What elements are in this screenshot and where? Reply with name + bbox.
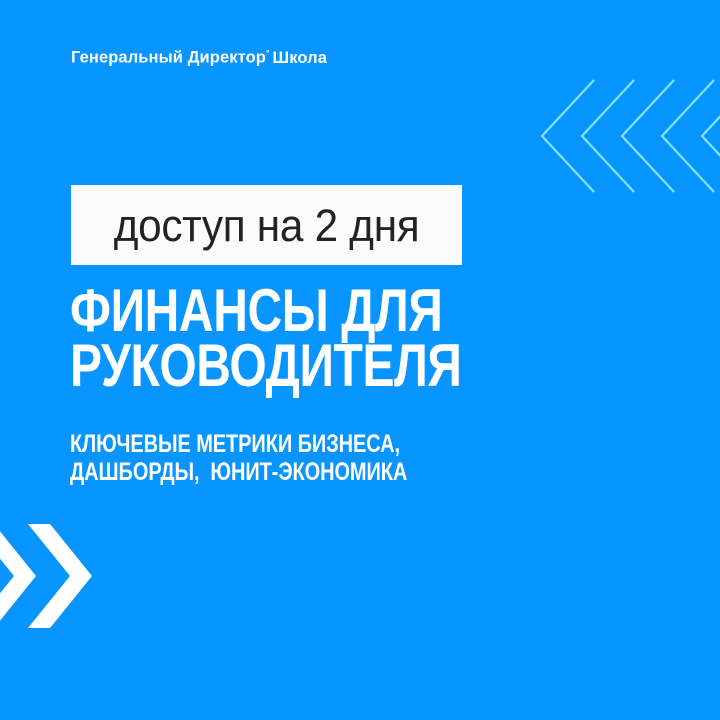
page-subtitle-line-1: КЛЮЧЕВЫЕ МЕТРИКИ БИЗНЕСА, [70,430,518,458]
page-title-line-2: РУКОВОДИТЕЛЯ [70,338,518,393]
access-duration-badge: доступ на 2 дня [71,185,462,265]
page-subtitle-line-2: ДАШБОРДЫ, ЮНИТ-ЭКОНОМИКА [70,458,518,486]
page-title-line-1: ФИНАНСЫ ДЛЯ [70,283,518,338]
page-subtitle: КЛЮЧЕВЫЕ МЕТРИКИ БИЗНЕСА, ДАШБОРДЫ, ЮНИТ… [70,430,630,486]
chevrons-right-solid-icon [0,524,96,628]
access-duration-label: доступ на 2 дня [114,203,420,248]
page-title: ФИНАНСЫ ДЛЯ РУКОВОДИТЕЛЯ [70,283,630,393]
brand-suffix: Школа [273,49,327,67]
brand-name: Генеральный Директор [71,49,266,67]
brand-registered-mark: ° [266,48,270,58]
chevrons-left-outline-icon [540,78,720,198]
promo-poster: Генеральный Директор°Школа доступ на 2 д… [0,0,720,720]
brand-logo: Генеральный Директор°Школа [71,49,327,66]
